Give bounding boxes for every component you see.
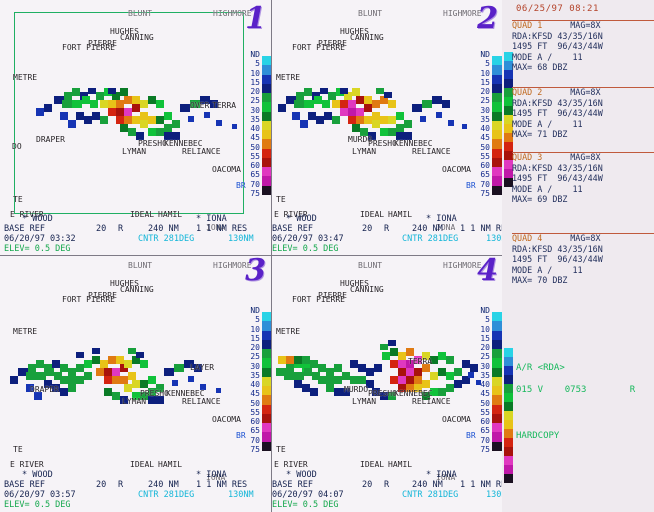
panel-1-elevation: ELEV= 0.5 DEG	[4, 244, 71, 254]
dbz-swatch-35	[492, 368, 502, 377]
map-label-te: TE	[13, 196, 23, 204]
map-label-reliance: RELIANCE	[412, 148, 451, 156]
reflectivity-cell	[334, 364, 342, 372]
reflectivity-cell	[300, 120, 308, 128]
quad-3-title: QUAD 3	[512, 152, 542, 162]
dbz-tick-45: 45	[471, 389, 490, 398]
dbz-swatch-65	[492, 167, 502, 176]
reflectivity-cell	[308, 112, 316, 120]
reflectivity-cell	[68, 376, 76, 384]
reflectivity-cell	[172, 120, 180, 128]
dbz-tick-30: 30	[471, 362, 490, 371]
reflectivity-cell	[84, 116, 92, 124]
panel-2-center-range: 130NM	[486, 234, 502, 244]
dbz-tick-10: 10	[241, 69, 260, 78]
reflectivity-cell	[348, 116, 356, 124]
quad-4-title: QUAD 4	[512, 233, 542, 243]
reflectivity-cell	[140, 112, 148, 120]
reflectivity-cell	[174, 364, 184, 372]
reflectivity-cell	[124, 116, 132, 124]
panel-3-product: BASE REF	[4, 480, 45, 490]
sidebar-dbz-swatch	[504, 474, 513, 483]
panel-4-center-azimuth: CNTR 281DEG	[402, 490, 458, 500]
panel-4-center-range: 130NM	[486, 490, 502, 500]
panel-1-datetime: 06/20/97 03:32	[4, 234, 76, 244]
dbz-tick-30: 30	[241, 362, 260, 371]
quad-1-altitude: 1495 FT 96/43/44W	[512, 41, 654, 52]
reflectivity-cell	[36, 360, 44, 368]
reflectivity-cell	[310, 360, 318, 368]
reflectivity-cell	[398, 352, 406, 360]
dbz-tick-10: 10	[241, 325, 260, 334]
map-label-oacoma: OACOMA	[442, 166, 471, 174]
hardcopy-button[interactable]: HARDCOPY	[516, 430, 559, 443]
reflectivity-cell	[216, 388, 221, 393]
reflectivity-cell	[406, 376, 414, 384]
map-label-reliance: RELIANCE	[182, 148, 221, 156]
sidebar-dbz-swatch	[504, 142, 513, 151]
map-label-lyman: LYMAN	[122, 398, 146, 406]
panel-4-product: BASE REF	[272, 480, 313, 490]
dbz-tick-55: 55	[471, 152, 490, 161]
dbz-tick-25: 25	[241, 352, 260, 361]
reflectivity-cell	[412, 104, 422, 112]
reflectivity-cell	[340, 100, 348, 108]
quad-4-max-dbz: MAX= 70 DBZ	[512, 275, 654, 286]
dbz-swatch-35	[492, 112, 502, 121]
quad-info-3: QUAD 3MAG=8X RDA:KFSD 43/35/16N 1495 FT …	[512, 152, 654, 205]
map-label-terra: TERRA	[408, 358, 432, 366]
reflectivity-cell	[320, 88, 328, 94]
reflectivity-cell	[454, 368, 462, 376]
panel-2-elev-num: 20	[362, 224, 372, 234]
reflectivity-cell	[136, 352, 144, 358]
reflectivity-cell	[350, 376, 358, 384]
panel-3-dbz-tick-labels: ND51015202530354045505560657075	[241, 306, 260, 454]
reflectivity-cell	[140, 120, 148, 128]
sidebar-dbz-swatch	[504, 447, 513, 456]
radar-panel-4[interactable]: BLUNTHIGHMOREHUGHESCANNINGPIERREFORT PIE…	[272, 256, 502, 512]
dbz-tick-60: 60	[471, 161, 490, 170]
reflectivity-cell	[356, 96, 364, 104]
reflectivity-cell	[364, 96, 372, 104]
dbz-tick-35: 35	[471, 371, 490, 380]
reflectivity-cell	[112, 392, 120, 400]
dbz-tick-45: 45	[471, 133, 490, 142]
dbz-swatch-40	[492, 377, 502, 386]
quad-2-mag: MAG=8X	[570, 87, 600, 97]
dbz-tick-55: 55	[241, 408, 260, 417]
map-label-fort-pierre: FORT PIERRE	[62, 296, 115, 304]
sidebar-dbz-swatch	[504, 465, 513, 474]
panel-4-iona-label: * IONA	[426, 470, 457, 480]
reflectivity-cell	[326, 368, 334, 376]
reflectivity-cell	[422, 380, 430, 388]
dbz-tick-20: 20	[241, 343, 260, 352]
dbz-tick-65: 65	[241, 426, 260, 435]
reflectivity-cell	[384, 92, 392, 98]
reflectivity-cell	[104, 368, 112, 376]
dbz-swatch-10	[492, 321, 502, 330]
radar-panel-2[interactable]: BLUNTHIGHMOREHUGHESCANNINGPIERREFORT PIE…	[272, 0, 502, 256]
dbz-tick-60: 60	[471, 417, 490, 426]
reflectivity-cell	[216, 120, 222, 126]
panel-2-range: 240 NM	[412, 224, 443, 234]
map-label-fort-pierre: FORT PIERRE	[292, 44, 345, 52]
reflectivity-cell	[84, 372, 92, 380]
reflectivity-cell	[322, 100, 330, 108]
dbz-swatch-50	[492, 395, 502, 404]
panel-1-dbz-tick-labels: ND51015202530354045505560657075	[241, 50, 260, 198]
panel-1-status-bar: * WOOD * IONA BASE REF 20 R 240 NM 1 1 N…	[0, 212, 272, 256]
reflectivity-cell	[292, 112, 300, 120]
reflectivity-cell	[348, 100, 356, 108]
reflectivity-cell	[116, 356, 124, 364]
reflectivity-cell	[96, 92, 104, 100]
panel-2-iona-label: * IONA	[426, 214, 457, 224]
dbz-tick-nd: ND	[471, 306, 490, 315]
reflectivity-cell	[352, 88, 360, 96]
dbz-swatch-20	[492, 340, 502, 349]
reflectivity-cell	[52, 360, 60, 368]
reflectivity-cell	[294, 100, 304, 108]
quad-3-max-dbz: MAX= 69 DBZ	[512, 194, 654, 205]
panel-2-dbz-tick-labels: ND51015202530354045505560657075	[471, 50, 490, 198]
reflectivity-cell	[124, 384, 132, 392]
quad-2-rda: RDA:KFSD 43/35/16N	[512, 98, 654, 109]
reflectivity-cell	[96, 368, 104, 376]
dbz-swatch-65	[492, 423, 502, 432]
quad-4-altitude: 1495 FT 96/43/44W	[512, 254, 654, 265]
map-label-lyman: LYMAN	[122, 148, 146, 156]
reflectivity-cell	[442, 100, 450, 108]
map-label-murdo: MURDO	[344, 386, 368, 394]
reflectivity-cell	[92, 356, 100, 364]
panel-4-elevation: ELEV= 0.5 DEG	[272, 500, 339, 510]
quad-2-title: QUAD 2	[512, 87, 542, 97]
panel-3-datetime: 06/20/97 03:57	[4, 490, 76, 500]
panel-3-elevation: ELEV= 0.5 DEG	[4, 500, 71, 510]
reflectivity-cell	[172, 380, 178, 386]
reflectivity-cell	[318, 364, 326, 372]
reflectivity-cell	[132, 104, 140, 112]
radar-panel-1[interactable]: BLUNTHIGHMOREHUGHESCANNINGPIERREFORT PIE…	[0, 0, 272, 256]
dbz-swatch-70	[492, 432, 502, 441]
panel-4-dbz-colorbar	[492, 312, 502, 460]
reflectivity-cell	[188, 376, 194, 382]
dbz-tick-30: 30	[471, 106, 490, 115]
reflectivity-cell	[390, 376, 398, 384]
reflectivity-cell	[104, 376, 112, 384]
reflectivity-cell	[454, 380, 462, 388]
map-label-metre: METRE	[276, 328, 300, 336]
reflectivity-cell	[132, 96, 140, 104]
reflectivity-cell	[204, 112, 210, 118]
panel-4-range: 240 NM	[412, 480, 443, 490]
dbz-tick-40: 40	[241, 124, 260, 133]
dbz-swatch-15	[492, 331, 502, 340]
panel-3-elev-num: 20	[96, 480, 106, 490]
dbz-tick-60: 60	[241, 417, 260, 426]
dbz-tick-55: 55	[241, 152, 260, 161]
reflectivity-cell	[60, 364, 68, 372]
map-label-blunt: BLUNT	[128, 262, 152, 270]
map-label-oacoma: OACOMA	[442, 416, 471, 424]
reflectivity-cell	[188, 116, 194, 122]
reflectivity-cell	[164, 112, 172, 120]
dbz-tick-nd: ND	[471, 50, 490, 59]
sidebar-dbz-swatch	[504, 366, 513, 375]
reflectivity-cell	[108, 88, 116, 94]
reflectivity-cell	[390, 348, 398, 356]
panel-4-datetime: 06/20/97 04:07	[272, 490, 344, 500]
reflectivity-cell	[92, 112, 100, 120]
quad-1-rule	[512, 20, 654, 21]
map-label-canning: CANNING	[350, 34, 384, 42]
map-label-blunt: BLUNT	[358, 262, 382, 270]
dbz-tick-20: 20	[241, 87, 260, 96]
panel-3-status-bar: * WOOD * IONA BASE REF 20 R 240 NM 1 1 N…	[0, 468, 272, 512]
reflectivity-cell	[100, 100, 108, 108]
panel-3-range: 240 NM	[148, 480, 179, 490]
reflectivity-cell	[104, 388, 112, 396]
reflectivity-cell	[304, 368, 312, 376]
reflectivity-cell	[438, 368, 446, 376]
reflectivity-cell	[302, 384, 310, 392]
dbz-swatch-45	[492, 130, 502, 139]
map-label-canning: CANNING	[120, 34, 154, 42]
reflectivity-cell	[68, 120, 76, 128]
sidebar-colorbar-strip	[502, 0, 512, 512]
reflectivity-cell	[364, 104, 372, 112]
panel-2-dbz-colorbar	[492, 56, 502, 204]
quad-3-rule	[512, 152, 654, 153]
dbz-swatch-5	[492, 312, 502, 321]
sidebar-dbz-swatch	[504, 402, 513, 411]
dbz-swatch-70	[492, 176, 502, 185]
reflectivity-cell	[36, 108, 44, 116]
reflectivity-cell	[164, 124, 172, 132]
panel-4-r-flag: R	[384, 480, 389, 490]
ar-values-row: 015 V 0753 R	[516, 384, 635, 397]
dbz-tick-25: 25	[241, 96, 260, 105]
radar-4panel-screenshot: BLUNTHIGHMOREHUGHESCANNINGPIERREFORT PIE…	[0, 0, 654, 512]
map-label-layer: LAYER	[190, 364, 214, 372]
reflectivity-cell	[68, 368, 76, 376]
map-label-over: OVER	[190, 102, 209, 110]
reflectivity-cell	[120, 124, 128, 132]
reflectivity-cell	[72, 88, 80, 96]
dbz-tick-35: 35	[241, 115, 260, 124]
quad-4-mode: MODE A / 11	[512, 265, 654, 276]
reflectivity-cell	[84, 360, 92, 368]
dbz-tick-75: 75	[471, 189, 490, 198]
reflectivity-cell	[304, 100, 314, 108]
reflectivity-cell	[332, 100, 340, 108]
reflectivity-cell	[372, 120, 380, 128]
panel-1-resolution: 1 1 NM RES	[196, 224, 247, 234]
reflectivity-cell	[302, 356, 310, 364]
reflectivity-cell	[398, 360, 406, 368]
sidebar-dbz-swatch	[504, 456, 513, 465]
reflectivity-cell	[294, 372, 304, 380]
reflectivity-cell	[156, 116, 164, 124]
reflectivity-cell	[438, 352, 446, 360]
map-label-blunt: BLUNT	[358, 10, 382, 18]
panel-1-wood-label: * WOOD	[22, 214, 53, 224]
map-label-reliance: RELIANCE	[412, 398, 451, 406]
reflectivity-cell	[140, 100, 148, 108]
panel-3-resolution: 1 1 NM RES	[196, 480, 247, 490]
reflectivity-cell	[414, 376, 422, 384]
reflectivity-cell	[462, 124, 467, 129]
dbz-tick-35: 35	[471, 115, 490, 124]
reflectivity-cell	[380, 128, 388, 136]
panel-1-product: BASE REF	[4, 224, 45, 234]
dbz-tick-5: 5	[471, 315, 490, 324]
sidebar-dbz-swatch	[504, 420, 513, 429]
sidebar-dbz-swatch	[504, 375, 513, 384]
reflectivity-cell	[374, 364, 382, 372]
reflectivity-cell	[180, 104, 190, 112]
panel-4-resolution: 1 1 NM RES	[460, 480, 502, 490]
dbz-tick-45: 45	[241, 133, 260, 142]
reflectivity-cell	[164, 368, 174, 376]
reflectivity-cell	[36, 372, 46, 380]
dbz-swatch-55	[492, 149, 502, 158]
dbz-tick-25: 25	[471, 96, 490, 105]
dbz-swatch-60	[492, 414, 502, 423]
dbz-tick-5: 5	[241, 315, 260, 324]
map-label-te: TE	[276, 446, 286, 454]
quad-1-title: QUAD 1	[512, 20, 542, 30]
panel-1-r-flag: R	[118, 224, 123, 234]
dbz-tick-25: 25	[471, 352, 490, 361]
reflectivity-cell	[356, 108, 364, 116]
reflectivity-cell	[324, 112, 332, 120]
map-label-draper: DRAPER	[36, 136, 65, 144]
reflectivity-cell	[28, 364, 36, 372]
handwritten-panel-number-3: 3	[245, 256, 266, 286]
reflectivity-cell	[124, 108, 132, 116]
map-label-highmore: HIGHMORE	[443, 262, 482, 270]
dbz-tick-15: 15	[241, 78, 260, 87]
reflectivity-cell	[116, 108, 124, 116]
reflectivity-cell	[406, 368, 414, 376]
reflectivity-cell	[358, 376, 366, 384]
map-label-te: TE	[13, 446, 23, 454]
reflectivity-cell	[116, 116, 124, 124]
map-label-draper: DRAPER	[30, 386, 59, 394]
reflectivity-cell	[404, 120, 412, 128]
handwritten-panel-number-1: 1	[245, 4, 266, 34]
reflectivity-cell	[132, 380, 140, 388]
quad-2-altitude: 1495 FT 96/43/44W	[512, 108, 654, 119]
reflectivity-cell	[358, 364, 366, 372]
reflectivity-cell	[326, 376, 334, 384]
reflectivity-cell	[82, 96, 90, 104]
reflectivity-cell	[156, 128, 164, 136]
sidebar-dbz-swatch	[504, 348, 513, 357]
reflectivity-cell	[60, 388, 68, 396]
handwritten-panel-number-4: 4	[477, 256, 498, 286]
horizontal-panel-divider	[0, 255, 502, 256]
vertical-panel-divider	[271, 0, 272, 512]
reflectivity-cell	[286, 364, 294, 372]
panel-3-center-range: 130NM	[228, 490, 254, 500]
reflectivity-cell	[318, 376, 326, 384]
dbz-tick-75: 75	[241, 189, 260, 198]
reflectivity-cell	[414, 368, 422, 376]
reflectivity-cell	[294, 356, 302, 364]
reflectivity-cell	[296, 92, 304, 100]
reflectivity-cell	[446, 384, 454, 392]
reflectivity-cell	[148, 96, 156, 104]
dbz-swatch-50	[492, 139, 502, 148]
quad-1-mode: MODE A / 11	[512, 52, 654, 63]
dbz-swatch-75	[492, 186, 502, 195]
dbz-tick-10: 10	[471, 69, 490, 78]
reflectivity-cell	[448, 120, 454, 126]
dbz-swatch-5	[492, 56, 502, 65]
panel-4-wood-label: * WOOD	[286, 470, 317, 480]
panel-1-iona-label: * IONA	[196, 214, 227, 224]
reflectivity-cell	[340, 88, 348, 94]
map-label-oacoma: OACOMA	[212, 416, 241, 424]
dbz-tick-65: 65	[241, 170, 260, 179]
dbz-tick-70: 70	[241, 180, 260, 189]
dbz-tick-5: 5	[241, 59, 260, 68]
reflectivity-cell	[388, 116, 396, 124]
reflectivity-cell	[286, 356, 294, 364]
map-label-metre: METRE	[13, 74, 37, 82]
reflectivity-cell	[72, 100, 82, 108]
reflectivity-cell	[342, 372, 350, 380]
reflectivity-cell	[116, 100, 124, 108]
sidebar-dbz-swatch	[504, 393, 513, 402]
radar-panel-3[interactable]: BLUNTHIGHMOREHUGHESCANNINGPIERREFORT PIE…	[0, 256, 272, 512]
reflectivity-cell	[60, 376, 68, 384]
reflectivity-cell	[366, 368, 374, 376]
handwritten-panel-number-2: 2	[477, 4, 498, 34]
dbz-tick-20: 20	[471, 343, 490, 352]
quad-2-mode: MODE A / 11	[512, 119, 654, 130]
panel-4-status-bar: * WOOD * IONA BASE REF 20 R 240 NM 1 1 N…	[272, 468, 502, 512]
quad-1-mag: MAG=8X	[570, 20, 600, 30]
map-label-highmore: HIGHMORE	[443, 10, 482, 18]
dbz-tick-60: 60	[241, 161, 260, 170]
dbz-tick-40: 40	[471, 124, 490, 133]
panel-3-wood-label: * WOOD	[22, 470, 53, 480]
dbz-tick-15: 15	[241, 334, 260, 343]
reflectivity-cell	[390, 360, 398, 368]
reflectivity-cell	[304, 88, 312, 96]
reflectivity-cell	[432, 96, 442, 104]
reflectivity-cell	[350, 360, 358, 368]
dbz-swatch-25	[492, 93, 502, 102]
reflectivity-cell	[396, 112, 404, 120]
sidebar-colorbar-bottom	[504, 348, 513, 483]
sidebar-dbz-swatch	[504, 411, 513, 420]
map-label-terra: TERRA	[212, 102, 236, 110]
display-datetime: 06/25/97 08:21	[516, 4, 599, 14]
dbz-swatch-30	[492, 102, 502, 111]
panel-2-wood-label: * WOOD	[286, 214, 317, 224]
reflectivity-cell	[430, 372, 438, 380]
dbz-swatch-20	[492, 84, 502, 93]
reflectivity-cell	[76, 352, 84, 358]
map-label-blunt: BLUNT	[128, 10, 152, 18]
